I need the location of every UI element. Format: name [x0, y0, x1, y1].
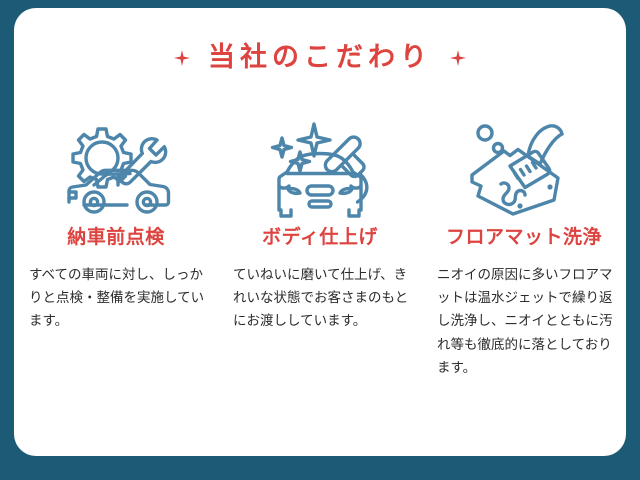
feature-heading: 納車前点検: [67, 228, 165, 249]
feature-body: ニオイの原因に多いフロアマットは温水ジェットで繰り返し洗浄し、ニオイとともに汚れ…: [431, 263, 617, 379]
feature-columns: 納車前点検 すべての車両に対し、しっかりと点検・整備を実施しています。: [14, 116, 626, 379]
feature-heading: ボディ仕上げ: [262, 228, 378, 249]
title-row: 当社のこだわり: [14, 44, 626, 71]
sparkle-icon-left: [174, 50, 190, 66]
feature-column-floor-mat: フロアマット洗浄 ニオイの原因に多いフロアマットは温水ジェットで繰り返し洗浄し、…: [422, 116, 626, 379]
feature-body: ていねいに磨いて仕上げ、きれいな状態でお客さまのもとにお渡ししています。: [227, 263, 413, 333]
floor-mat-brush-icon: [458, 116, 590, 220]
content-panel: 当社のこだわり: [14, 8, 626, 456]
outer-frame: 当社のこだわり: [0, 0, 640, 480]
car-wash-sparkle-icon: [254, 116, 386, 220]
feature-heading: フロアマット洗浄: [446, 228, 602, 249]
feature-body: すべての車両に対し、しっかりと点検・整備を実施しています。: [23, 263, 209, 333]
feature-column-body-finish: ボディ仕上げ ていねいに磨いて仕上げ、きれいな状態でお客さまのもとにお渡ししてい…: [218, 116, 422, 333]
page-title: 当社のこだわり: [208, 44, 432, 71]
feature-column-inspection: 納車前点検 すべての車両に対し、しっかりと点検・整備を実施しています。: [14, 116, 218, 333]
car-gear-wrench-icon: [50, 116, 182, 220]
sparkle-icon-right: [450, 50, 466, 66]
